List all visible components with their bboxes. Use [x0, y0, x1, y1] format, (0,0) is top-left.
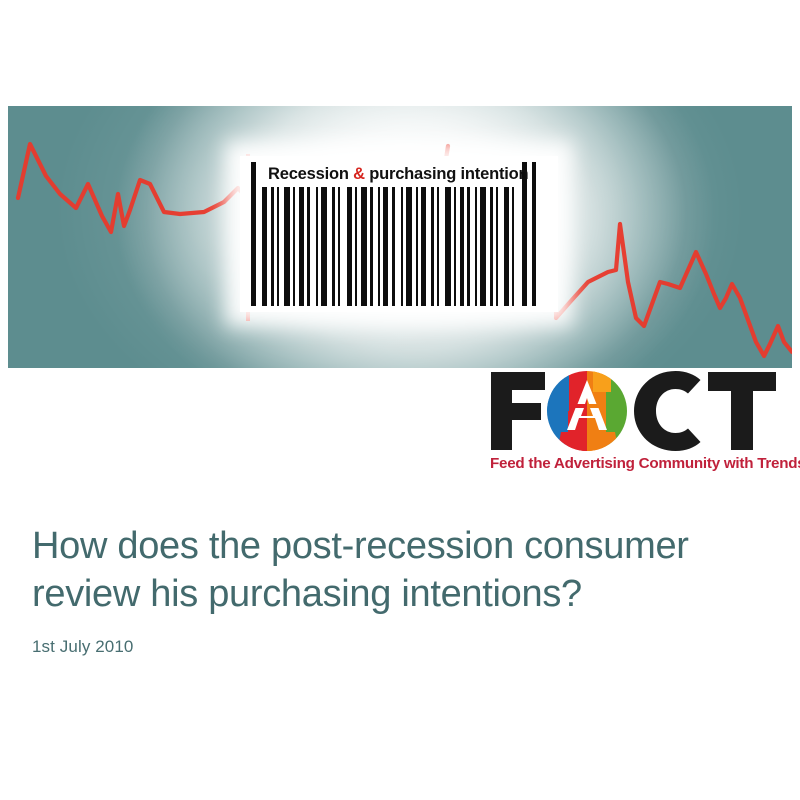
barcode-bar — [406, 187, 412, 306]
barcode-bar — [421, 187, 426, 306]
barcode-bar — [284, 187, 290, 306]
barcode-bar — [431, 187, 434, 306]
barcode-guard-bar-left — [251, 162, 256, 306]
barcode-bar — [460, 187, 464, 306]
barcode-title-suffix: purchasing intention — [365, 165, 529, 183]
barcode-bar — [321, 187, 327, 306]
barcode-bar — [370, 187, 373, 306]
barcode-graphic: Recession & purchasing intention — [240, 156, 558, 312]
barcode-bar — [496, 187, 498, 306]
barcode-bar — [490, 187, 493, 306]
barcode-bar — [392, 187, 395, 306]
title-slide: Recession & purchasing intention — [0, 0, 800, 800]
fact-logo-letters — [489, 370, 793, 452]
page-title: How does the post-recession consumer rev… — [32, 522, 772, 618]
barcode-title-prefix: Recession — [268, 165, 353, 183]
barcode-bar — [512, 187, 514, 306]
barcode-bar — [437, 187, 439, 306]
barcode-bar-strip — [262, 187, 514, 306]
barcode-bar — [454, 187, 456, 306]
fact-letter-f — [491, 372, 545, 450]
hero-banner: Recession & purchasing intention — [8, 106, 792, 368]
barcode-bar — [361, 187, 367, 306]
barcode-bar — [467, 187, 470, 306]
barcode-bar — [299, 187, 304, 306]
fact-letter-t — [708, 372, 776, 450]
barcode-bar — [316, 187, 318, 306]
barcode-bar — [355, 187, 357, 306]
barcode-bar — [332, 187, 335, 306]
barcode-bar — [277, 187, 279, 306]
barcode-bar — [338, 187, 340, 306]
barcode-bar — [347, 187, 352, 306]
barcode-bar — [416, 187, 418, 306]
slide-date: 1st July 2010 — [32, 636, 772, 658]
fact-logo: Feed the Advertising Community with Tren… — [489, 370, 793, 478]
barcode-bar — [401, 187, 403, 306]
barcode-bar — [262, 187, 267, 306]
fact-logo-tagline: Feed the Advertising Community with Tren… — [490, 454, 792, 474]
barcode-bar — [307, 187, 310, 306]
barcode-title-text: Recession & purchasing intention — [268, 162, 536, 186]
barcode-title-ampersand: & — [353, 165, 365, 183]
barcode-bar — [378, 187, 380, 306]
barcode-bar — [504, 187, 509, 306]
barcode-bar — [383, 187, 388, 306]
title-block: How does the post-recession consumer rev… — [32, 522, 772, 658]
barcode-bar — [271, 187, 274, 306]
barcode-bar — [293, 187, 295, 306]
barcode-bar — [480, 187, 486, 306]
barcode-bar — [445, 187, 451, 306]
barcode-bar — [475, 187, 477, 306]
